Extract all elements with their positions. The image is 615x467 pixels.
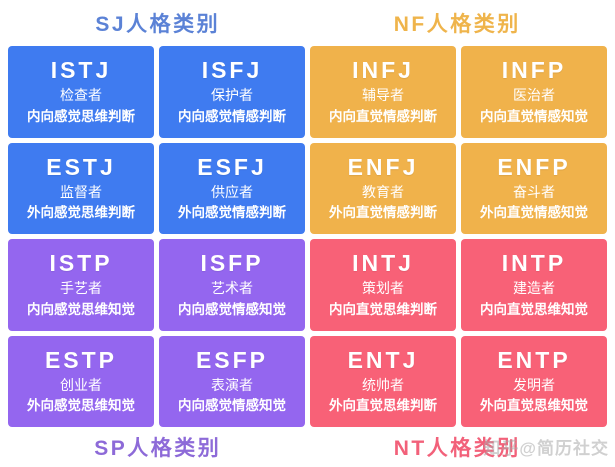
type-desc: 外向直觉情感知觉: [480, 203, 588, 223]
type-code: ESFP: [196, 346, 268, 375]
type-role: 发明者: [513, 375, 555, 397]
type-code: ESTJ: [46, 153, 116, 182]
type-desc: 内向感觉思维知觉: [27, 300, 135, 320]
type-role: 奋斗者: [513, 182, 555, 204]
type-card-isfj[interactable]: ISFJ 保护者 内向感觉情感判断: [159, 46, 305, 138]
type-code: ISFJ: [202, 56, 263, 85]
type-card-infj[interactable]: INFJ 辅导者 内向直觉情感判断: [310, 46, 456, 138]
type-desc: 外向感觉情感判断: [178, 203, 286, 223]
type-card-infp[interactable]: INFP 医治者 内向直觉情感知觉: [461, 46, 607, 138]
type-card-enfj[interactable]: ENFJ 教育者 外向直觉情感判断: [310, 143, 456, 235]
type-card-intj[interactable]: INTJ 策划者 内向直觉思维判断: [310, 239, 456, 331]
type-role: 教育者: [362, 182, 404, 204]
type-desc: 外向直觉情感判断: [329, 203, 437, 223]
type-code: ISTP: [49, 249, 112, 278]
type-role: 辅导者: [362, 85, 404, 107]
category-header-nt: NT人格类别: [308, 432, 608, 462]
type-code: ENFP: [497, 153, 570, 182]
type-desc: 外向直觉思维判断: [329, 396, 437, 416]
type-card-esfj[interactable]: ESFJ 供应者 外向感觉情感判断: [159, 143, 305, 235]
type-code: ISTJ: [51, 56, 112, 85]
type-code: INFP: [502, 56, 566, 85]
type-code: INTP: [502, 249, 566, 278]
type-card-estp[interactable]: ESTP 创业者 外向感觉思维知觉: [8, 336, 154, 428]
type-card-isfp[interactable]: ISFP 艺术者 内向感觉情感知觉: [159, 239, 305, 331]
type-card-intp[interactable]: INTP 建造者 内向直觉思维知觉: [461, 239, 607, 331]
category-header-sj: SJ人格类别: [8, 8, 308, 38]
type-desc: 内向直觉情感知觉: [480, 107, 588, 127]
type-role: 检查者: [60, 85, 102, 107]
type-role: 表演者: [211, 375, 253, 397]
type-desc: 内向直觉情感判断: [329, 107, 437, 127]
type-role: 医治者: [513, 85, 555, 107]
type-role: 艺术者: [211, 278, 253, 300]
type-role: 策划者: [362, 278, 404, 300]
type-code: INFJ: [352, 56, 414, 85]
type-desc: 内向直觉思维判断: [329, 300, 437, 320]
personality-type-grid: ISTJ 检查者 内向感觉思维判断 ISFJ 保护者 内向感觉情感判断 INFJ…: [0, 46, 615, 427]
type-desc: 内向感觉情感知觉: [178, 300, 286, 320]
type-card-estj[interactable]: ESTJ 监督者 外向感觉思维判断: [8, 143, 154, 235]
type-card-enfp[interactable]: ENFP 奋斗者 外向直觉情感知觉: [461, 143, 607, 235]
top-category-headers: SJ人格类别 NF人格类别: [0, 0, 615, 46]
type-card-entp[interactable]: ENTP 发明者 外向直觉思维知觉: [461, 336, 607, 428]
type-code: INTJ: [352, 249, 414, 278]
type-code: ENFJ: [348, 153, 419, 182]
type-code: ENTP: [497, 346, 570, 375]
type-desc: 外向感觉思维知觉: [27, 396, 135, 416]
type-role: 供应者: [211, 182, 253, 204]
type-desc: 外向感觉思维判断: [27, 203, 135, 223]
type-code: ESFJ: [197, 153, 267, 182]
type-card-istj[interactable]: ISTJ 检查者 内向感觉思维判断: [8, 46, 154, 138]
type-card-istp[interactable]: ISTP 手艺者 内向感觉思维知觉: [8, 239, 154, 331]
bottom-category-headers: SP人格类别 NT人格类别: [0, 427, 615, 467]
type-desc: 内向直觉思维知觉: [480, 300, 588, 320]
type-card-esfp[interactable]: ESFP 表演者 内向感觉情感知觉: [159, 336, 305, 428]
type-code: ISFP: [200, 249, 263, 278]
type-code: ESTP: [45, 346, 117, 375]
type-desc: 内向感觉情感判断: [178, 107, 286, 127]
mbti-chart: SJ人格类别 NF人格类别 ISTJ 检查者 内向感觉思维判断 ISFJ 保护者…: [0, 0, 615, 467]
type-role: 手艺者: [60, 278, 102, 300]
type-desc: 内向感觉思维判断: [27, 107, 135, 127]
type-role: 保护者: [211, 85, 253, 107]
type-desc: 外向直觉思维知觉: [480, 396, 588, 416]
type-role: 建造者: [513, 278, 555, 300]
type-code: ENTJ: [348, 346, 419, 375]
category-header-nf: NF人格类别: [308, 8, 608, 38]
type-desc: 内向感觉情感知觉: [178, 396, 286, 416]
type-role: 统帅者: [362, 375, 404, 397]
type-role: 监督者: [60, 182, 102, 204]
type-role: 创业者: [60, 375, 102, 397]
category-header-sp: SP人格类别: [8, 432, 308, 462]
type-card-entj[interactable]: ENTJ 统帅者 外向直觉思维判断: [310, 336, 456, 428]
